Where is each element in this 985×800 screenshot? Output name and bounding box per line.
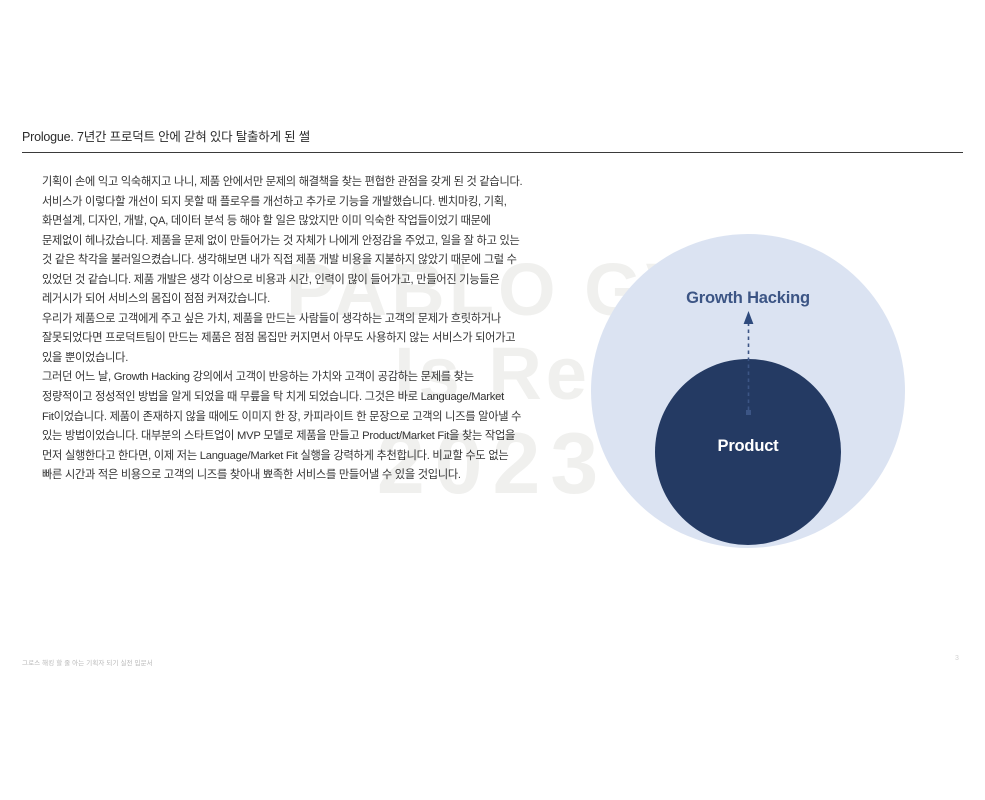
inner-circle-label: Product [655, 437, 841, 456]
body-line: 레거시가 되어 서비스의 몸집이 점점 커져갔습니다. [42, 290, 517, 310]
body-line: 기획이 손에 익고 익숙해지고 나니, 제품 안에서만 문제의 해결책을 찾는 … [42, 173, 517, 193]
body-line: 것 같은 착각을 불러일으켰습니다. 생각해보면 내가 직접 제품 개발 비용을… [42, 251, 517, 271]
body-line: 우리가 제품으로 고객에게 주고 싶은 가치, 제품을 만드는 사람들이 생각하… [42, 310, 517, 330]
page-title: Prologue. 7년간 프로덕트 안에 갇혀 있다 탈출하게 된 썰 [22, 126, 963, 152]
body-line: 있었던 것 같습니다. 제품 개발은 생각 이상으로 비용과 시간, 인력이 많… [42, 271, 517, 291]
growth-hacking-diagram: Growth Hacking Product [591, 234, 905, 548]
outer-circle-label: Growth Hacking [591, 289, 905, 308]
header-divider [22, 152, 963, 153]
body-line: 그러던 어느 날, Growth Hacking 강의에서 고객이 반응하는 가… [42, 368, 517, 388]
body-line: 있는 방법이었습니다. 대부분의 스타트업이 MVP 모델로 제품을 만들고 P… [42, 427, 517, 447]
body-line: 서비스가 이렇다할 개선이 되지 못할 때 플로우를 개선하고 추가로 기능을 … [42, 193, 517, 213]
body-line: 먼저 실행한다고 한다면, 이제 저는 Language/Market Fit … [42, 447, 517, 467]
body-line: Fit이었습니다. 제품이 존재하지 않을 때에도 이미지 한 장, 카피라이트… [42, 408, 517, 428]
body-line: 정량적이고 정성적인 방법을 알게 되었을 때 무릎을 탁 치게 되었습니다. … [42, 388, 517, 408]
slide-header: Prologue. 7년간 프로덕트 안에 갇혀 있다 탈출하게 된 썰 [22, 126, 963, 153]
slide-canvas: PABLO GV Is Re 2023 Prologue. 7년간 프로덕트 안… [0, 0, 985, 800]
body-line: 화면설계, 디자인, 개발, QA, 데이터 분석 등 해야 할 일은 많았지만… [42, 212, 517, 232]
body-text-block: 기획이 손에 익고 익숙해지고 나니, 제품 안에서만 문제의 해결책을 찾는 … [42, 173, 517, 486]
body-line: 있을 뿐이었습니다. [42, 349, 517, 369]
body-line: 잘못되었다면 프로덕트팀이 만드는 제품은 점점 몸집만 커지면서 아무도 사용… [42, 329, 517, 349]
page-number: 3 [955, 655, 959, 662]
body-line: 빠른 시간과 적은 비용으로 고객의 니즈를 찾아내 뾰족한 서비스를 만들어낼… [42, 466, 517, 486]
footer-caption: 그로스 해킹 할 줄 아는 기획자 되기 실전 입문서 [22, 657, 153, 667]
body-line: 문제없이 헤나갔습니다. 제품을 문제 없이 만들어가는 것 자체가 나에게 안… [42, 232, 517, 252]
upward-arrow-icon [741, 310, 755, 416]
